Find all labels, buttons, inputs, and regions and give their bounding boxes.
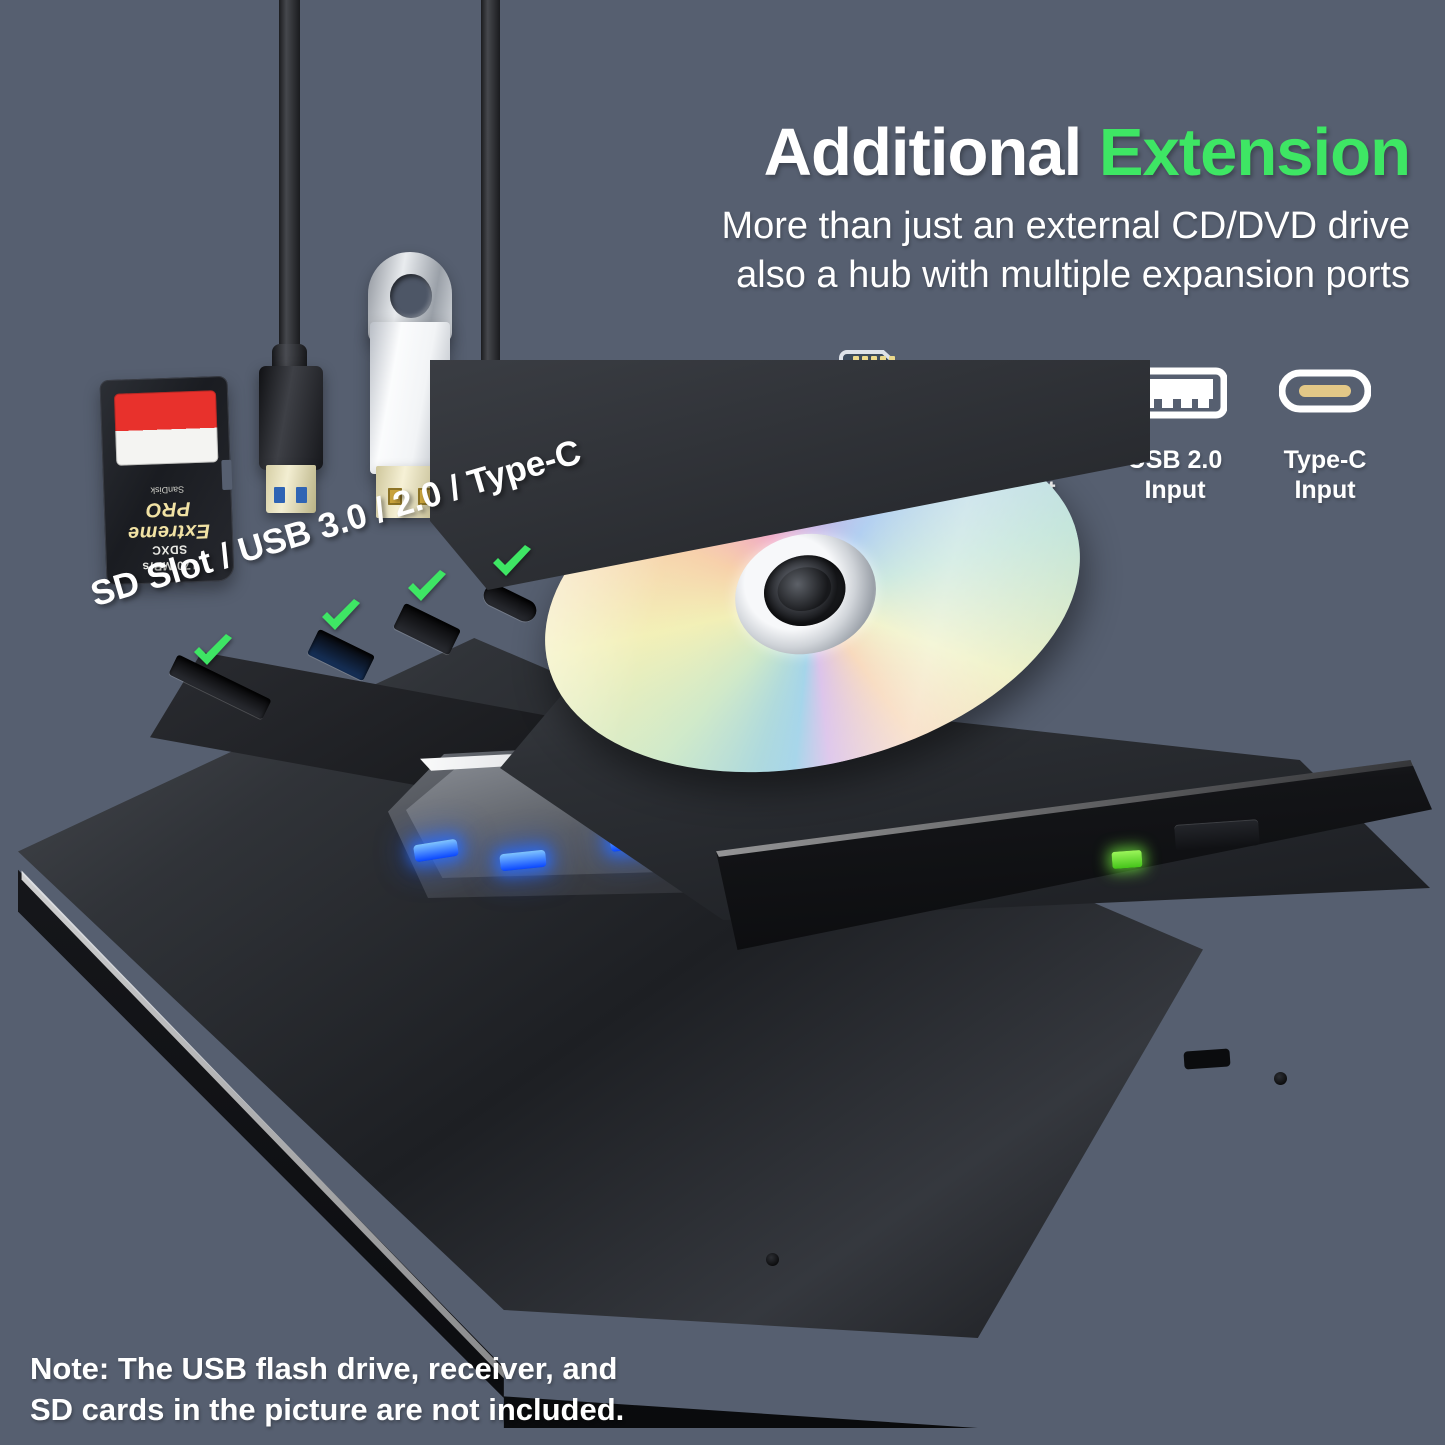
subtitle-line-1: More than just an external CD/DVD drive: [595, 202, 1410, 251]
check-icon-usb20: [404, 568, 450, 614]
activity-led: [1111, 850, 1142, 869]
tray-pinhole: [766, 1253, 779, 1266]
product-infographic: Additional Extension More than just an e…: [0, 0, 1445, 1445]
sd-card-label-band: [114, 390, 218, 466]
disclaimer-note: Note: The USB flash drive, receiver, and…: [30, 1348, 730, 1430]
usb-a-pin: [274, 487, 285, 503]
title-word-extension: Extension: [1099, 115, 1410, 190]
usb-a-connector-accessory: [259, 366, 323, 516]
emergency-eject-pinhole: [1274, 1072, 1287, 1085]
usb-a-pin: [296, 487, 307, 503]
usb-cable-left: [279, 0, 300, 362]
title-word-additional: Additional: [764, 115, 1082, 190]
tray-recess: [1183, 1048, 1230, 1069]
check-icon-usb30: [318, 597, 364, 643]
headline-block: Additional Extension More than just an e…: [595, 118, 1410, 300]
usb-c-icon: [1279, 348, 1371, 434]
usb-a-shell: [259, 366, 323, 470]
check-icon-sd: [190, 632, 236, 678]
page-title: Additional Extension: [595, 118, 1410, 188]
usb-cable-right: [481, 0, 500, 380]
note-line-1: Note: The USB flash drive, receiver, and: [30, 1348, 730, 1389]
subtitle-line-2: also a hub with multiple expansion ports: [595, 251, 1410, 300]
port-feature-typec: Type-C Input: [1250, 348, 1400, 505]
flash-drive-hole: [390, 274, 432, 318]
usb-a-contact-tip: [266, 465, 316, 513]
check-icon-typec: [489, 543, 535, 589]
port-label-typec: Type-C Input: [1284, 446, 1367, 505]
note-line-2: SD cards in the picture are not included…: [30, 1389, 730, 1430]
